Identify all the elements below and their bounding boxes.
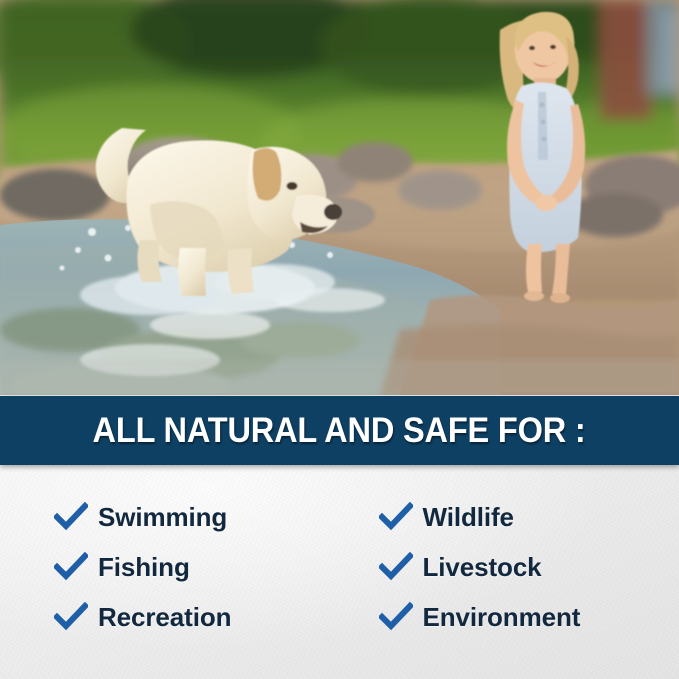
- feature-item-fishing: Fishing: [54, 542, 355, 592]
- check-icon: [379, 502, 413, 532]
- check-icon: [379, 552, 413, 582]
- feature-item-environment: Environment: [379, 592, 679, 642]
- product-feature-card: ALL NATURAL AND SAFE FOR : Swimming Fish…: [0, 0, 679, 679]
- feature-item-recreation: Recreation: [54, 592, 355, 642]
- feature-label-swimming: Swimming: [98, 502, 227, 533]
- feature-label-recreation: Recreation: [98, 602, 231, 633]
- check-icon: [54, 602, 88, 632]
- hero-photo-illustration: [0, 0, 679, 395]
- feature-item-livestock: Livestock: [379, 542, 679, 592]
- features-grid: Swimming Fishing Recreation: [0, 492, 679, 642]
- check-icon: [379, 602, 413, 632]
- check-icon: [54, 502, 88, 532]
- feature-label-fishing: Fishing: [98, 552, 190, 583]
- features-column-left: Swimming Fishing Recreation: [0, 492, 355, 642]
- hero-photo: [0, 0, 679, 395]
- feature-item-wildlife: Wildlife: [379, 492, 679, 542]
- features-column-right: Wildlife Livestock Environment: [355, 492, 679, 642]
- features-section: Swimming Fishing Recreation: [0, 465, 679, 679]
- feature-item-swimming: Swimming: [54, 492, 355, 542]
- feature-label-environment: Environment: [423, 602, 581, 633]
- banner-title: ALL NATURAL AND SAFE FOR :: [93, 411, 586, 451]
- headline-banner: ALL NATURAL AND SAFE FOR :: [0, 396, 679, 465]
- feature-label-livestock: Livestock: [423, 552, 542, 583]
- feature-label-wildlife: Wildlife: [423, 502, 514, 533]
- check-icon: [54, 552, 88, 582]
